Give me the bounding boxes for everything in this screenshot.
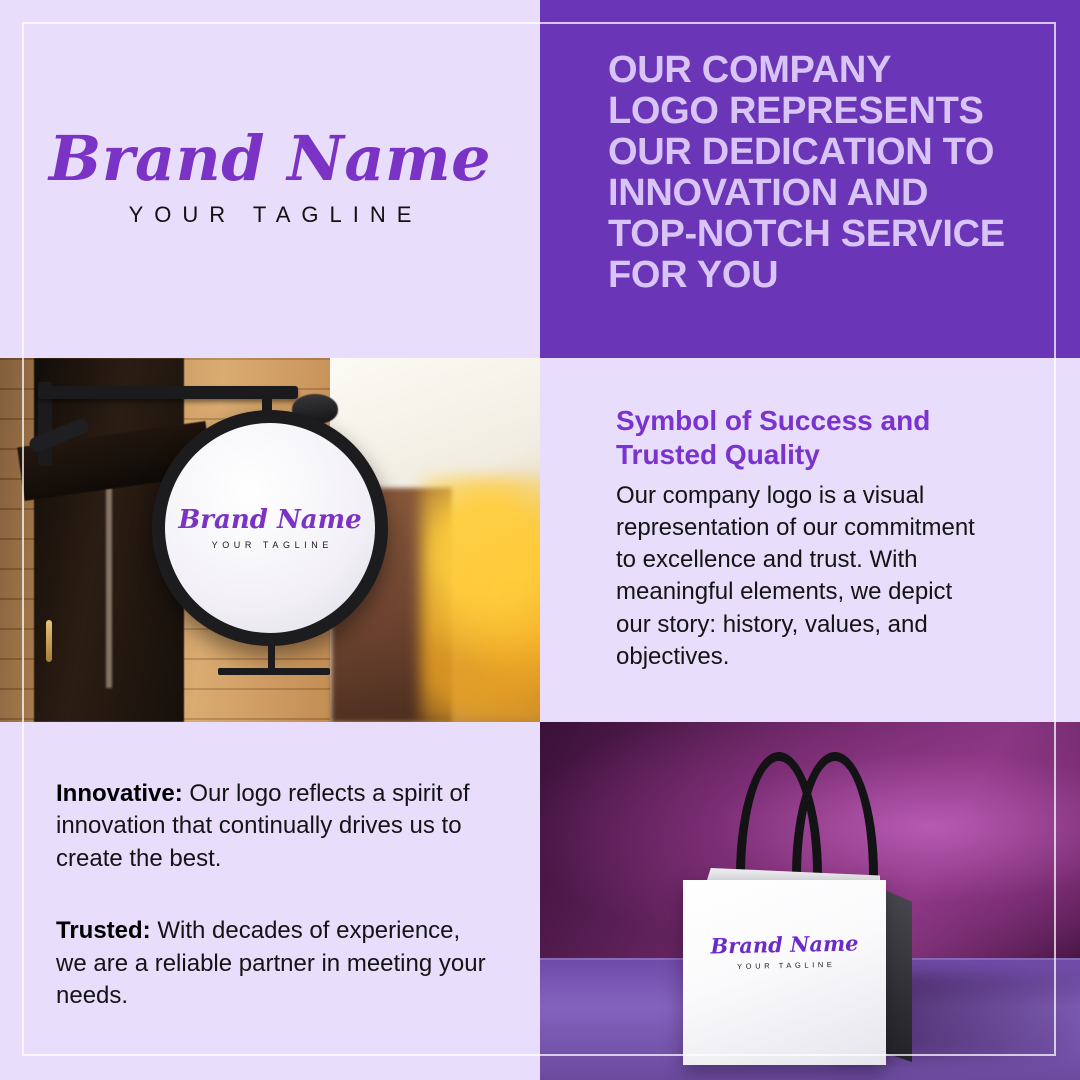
description-heading: Symbol of Success and Trusted Quality: [616, 404, 1016, 472]
sign-brand-tagline: YOUR TAGLINE: [207, 540, 333, 550]
storefront-sign-photo: Brand Name YOUR TAGLINE: [0, 358, 540, 722]
bag-logo-lockup: Brand Name YOUR TAGLINE: [683, 934, 886, 970]
features-list: Innovative: Our logo reflects a spirit o…: [56, 778, 496, 1012]
sign-face: Brand Name YOUR TAGLINE: [165, 423, 375, 633]
sign-brand-wordmark: Brand Name: [178, 507, 361, 533]
sign-bottom-stem: [268, 644, 275, 670]
brand-logo-lockup: Brand Name YOUR TAGLINE: [0, 128, 540, 226]
bag-brand-wordmark: Brand Name: [683, 932, 886, 957]
bag-front-panel: [683, 880, 886, 1065]
feature-term: Trusted:: [56, 917, 151, 944]
headline-text: OUR COMPANY LOGO REPRESENTS OUR DEDICATI…: [608, 50, 1048, 296]
brand-wordmark: Brand Name: [0, 128, 540, 190]
description-panel: Symbol of Success and Trusted Quality Ou…: [540, 358, 1080, 722]
door-handle: [46, 620, 52, 662]
feature-term: Innovative:: [56, 780, 183, 807]
autumn-tree: [420, 476, 540, 722]
features-panel: Innovative: Our logo reflects a spirit o…: [0, 722, 540, 1080]
sign-bottom-bar: [218, 668, 330, 675]
logo-panel: Brand Name YOUR TAGLINE: [0, 0, 540, 358]
brand-presentation-poster: Brand Name YOUR TAGLINE OUR COMPANY LOGO…: [0, 0, 1080, 1080]
feature-item-innovative: Innovative: Our logo reflects a spirit o…: [56, 778, 496, 875]
sign-bracket-arm: [38, 386, 298, 399]
description-body: Our company logo is a visual representat…: [616, 480, 1046, 673]
headline-panel: OUR COMPANY LOGO REPRESENTS OUR DEDICATI…: [540, 0, 1080, 358]
brand-tagline: YOUR TAGLINE: [0, 204, 540, 226]
feature-item-trusted: Trusted: With decades of experience, we …: [56, 915, 496, 1012]
circular-sign-frame: Brand Name YOUR TAGLINE: [152, 410, 388, 646]
shopping-bag-photo: Brand Name YOUR TAGLINE: [540, 722, 1080, 1080]
